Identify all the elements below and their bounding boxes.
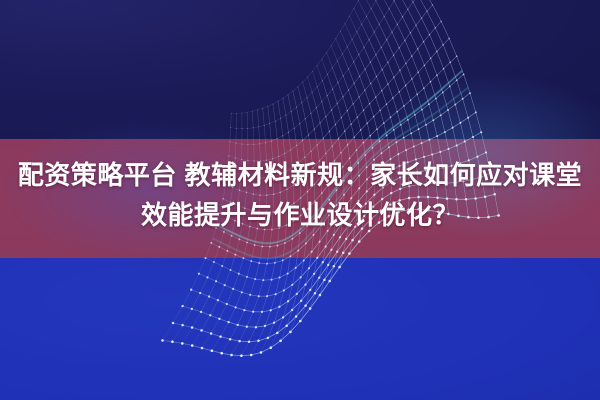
headline-line-2: 效能提升与作业设计优化？	[0, 195, 600, 235]
headline-line-1: 配资策略平台 教辅材料新规：家长如何应对课堂	[0, 155, 600, 195]
background-band-blue	[0, 258, 600, 400]
page-title: 配资策略平台 教辅材料新规：家长如何应对课堂 效能提升与作业设计优化？	[0, 155, 600, 235]
banner-image: 配资策略平台 教辅材料新规：家长如何应对课堂 效能提升与作业设计优化？	[0, 0, 600, 400]
background-band-navy	[0, 0, 600, 140]
